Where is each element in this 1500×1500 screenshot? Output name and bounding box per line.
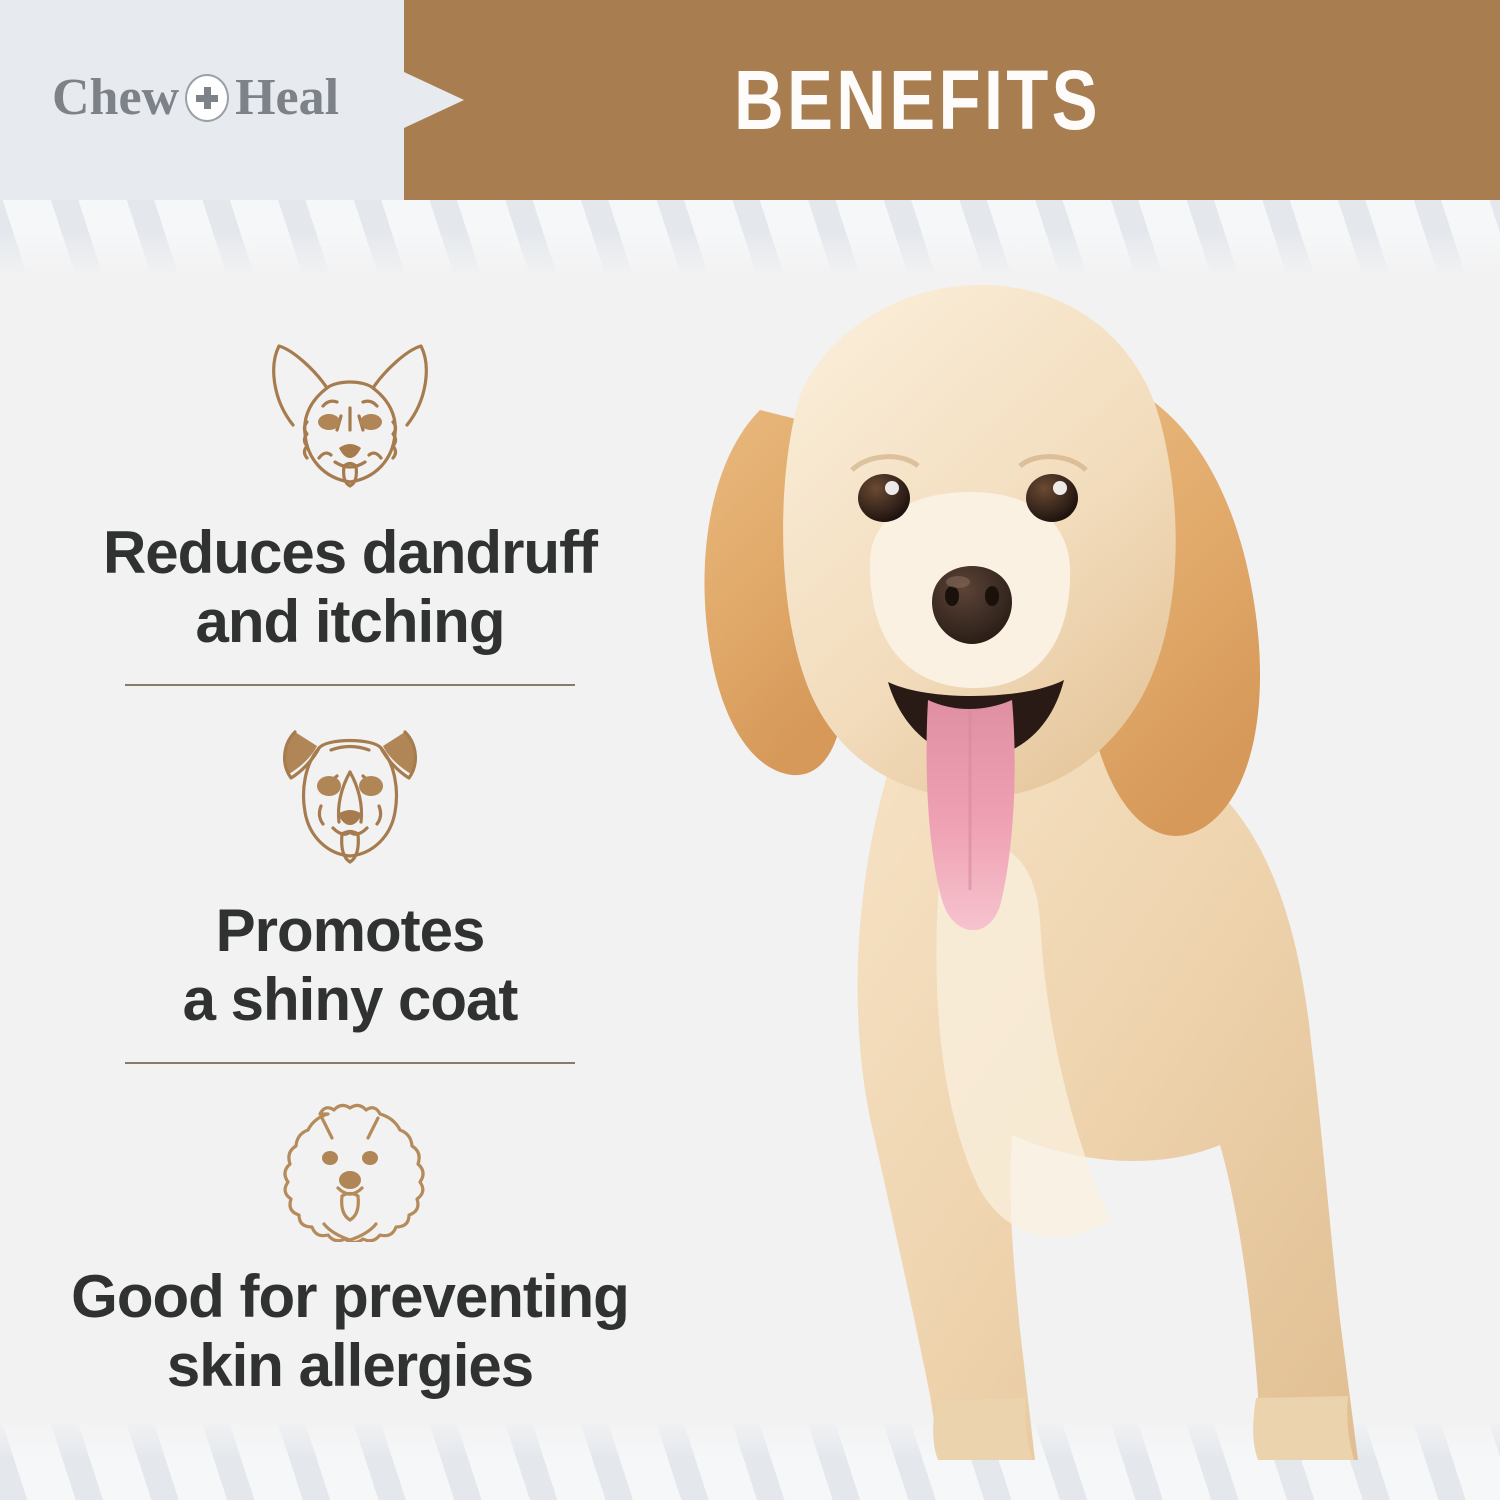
corgi-eye-left: [318, 414, 340, 430]
benefit-text-dandruff: Reduces dandruff and itching: [103, 518, 597, 656]
terrier-eye-left: [317, 776, 341, 796]
corgi-eye-right: [360, 414, 382, 430]
terrier-eye-right: [359, 776, 383, 796]
benefit-text-allergies: Good for preventing skin allergies: [71, 1262, 629, 1400]
puppy-eye-left: [858, 474, 910, 522]
puppy-eye-highlight-right: [1053, 481, 1067, 495]
benefit-item-coat: Promotes a shiny coat: [0, 714, 700, 1034]
benefits-list: Reduces dandruff and itching: [0, 300, 700, 1400]
header-banner: BENEFITS: [404, 0, 1500, 200]
header-bar: Chew Heal BENEFITS: [0, 0, 1500, 200]
benefit-divider-2: [125, 1062, 575, 1064]
corgi-nose: [339, 444, 361, 458]
puppy-front-leg-right: [1253, 1396, 1354, 1460]
medical-plus-icon: [185, 74, 229, 122]
benefit-text-coat: Promotes a shiny coat: [183, 896, 518, 1034]
benefit-item-allergies: Good for preventing skin allergies: [0, 1092, 700, 1400]
terrier-dog-face-icon: [255, 714, 445, 874]
puppy-eye-right: [1026, 474, 1078, 522]
puppy-illustration: [640, 230, 1500, 1460]
benefit-divider-1: [125, 684, 575, 686]
fluffy-dog-face-icon: [260, 1092, 440, 1242]
puppy-nostril-right: [985, 586, 999, 606]
brand-logo-word-chew: Chew: [52, 72, 179, 124]
puppy-nostril-left: [945, 586, 959, 606]
terrier-nose: [338, 810, 362, 825]
fluffy-eye-left: [322, 1151, 338, 1165]
puppy-front-leg-left: [933, 1398, 1032, 1460]
puppy-photo: [640, 230, 1500, 1460]
brand-logo[interactable]: Chew Heal: [52, 72, 339, 124]
promo-graphic: Chew Heal BENEFITS: [0, 0, 1500, 1500]
brand-logo-word-heal: Heal: [235, 72, 339, 124]
fluffy-eye-right: [362, 1151, 378, 1165]
puppy-nose-highlight: [946, 576, 970, 588]
fluffy-nose: [339, 1171, 361, 1189]
page-title: BENEFITS: [734, 58, 1101, 142]
corgi-dog-face-icon: [245, 330, 455, 500]
puppy-eye-highlight-left: [885, 481, 899, 495]
benefit-item-dandruff: Reduces dandruff and itching: [0, 330, 700, 656]
fluffy-tongue: [342, 1194, 359, 1221]
